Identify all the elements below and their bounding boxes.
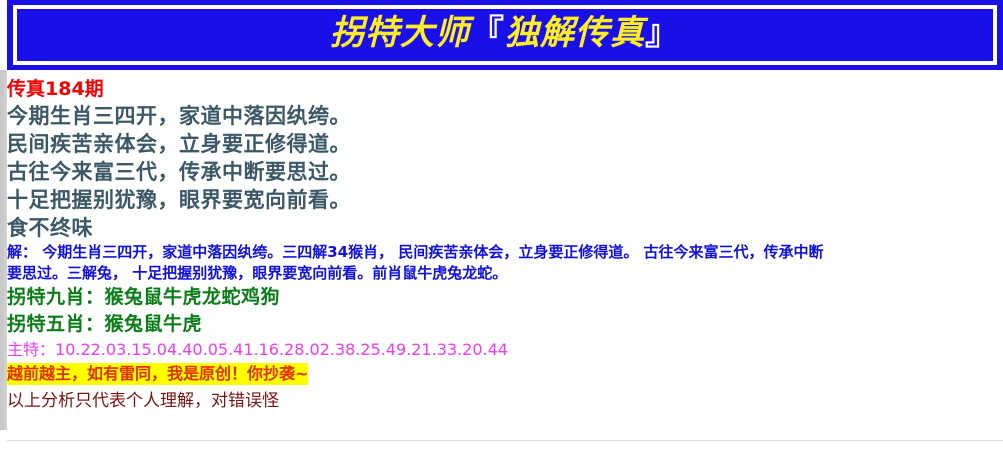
poem-line: 十足把握别犹豫，眼界要宽向前看。 <box>7 186 997 214</box>
banner-title-main: 拐特大师 <box>330 13 470 53</box>
explanation-line: 要思过。三解兔， 十足把握别犹豫，眼界要宽向前看。前肖鼠牛虎兔龙蛇。 <box>7 263 997 284</box>
poem-line: 古往今来富三代，传承中断要思过。 <box>7 158 997 186</box>
poem-line: 民间疾苦亲体会，立身要正修得道。 <box>7 130 997 158</box>
main-numbers-line: 主特：10.22.03.15.04.40.05.41.16.28.02.38.2… <box>7 338 997 361</box>
main-numbers-label: 主特： <box>7 340 55 359</box>
bottom-divider <box>7 440 1003 441</box>
banner-title: 拐特大师『独解传真』 <box>7 11 1003 55</box>
poem-line: 今期生肖三四开，家道中落因纨绔。 <box>7 102 997 130</box>
disclaimer-line: 以上分析只代表个人理解，对错误怪 <box>7 385 997 414</box>
main-numbers-value: 10.22.03.15.04.40.05.41.16.28.02.38.25.4… <box>55 340 508 359</box>
page-root: 拐特大师『独解传真』 传真184期 今期生肖三四开，家道中落因纨绔。 民间疾苦亲… <box>0 0 1003 452</box>
explanation-line: 解： 今期生肖三四开，家道中落因纨绔。三四解34猴肖， 民间疾苦亲体会，立身要正… <box>7 242 997 263</box>
header-banner: 拐特大师『独解传真』 <box>7 0 1003 70</box>
issue-title: 传真184期 <box>7 70 997 102</box>
banner-bracket-open: 『 <box>470 13 505 53</box>
banner-corner-br <box>986 54 993 61</box>
left-rail <box>0 70 7 430</box>
nine-zodiac-line: 拐特九肖：猴兔鼠牛虎龙蛇鸡狗 <box>7 284 997 311</box>
banner-title-inner: 独解传真 <box>505 13 645 53</box>
copyright-notice-text: 越前越主，如有雷同，我是原创！你抄袭~ <box>7 363 308 385</box>
banner-bracket-close: 』 <box>645 13 680 53</box>
content-area: 传真184期 今期生肖三四开，家道中落因纨绔。 民间疾苦亲体会，立身要正修得道。… <box>7 70 997 414</box>
poem-line: 食不终味 <box>7 214 997 242</box>
five-zodiac-line: 拐特五肖：猴兔鼠牛虎 <box>7 311 997 338</box>
banner-corner-bl <box>17 54 24 61</box>
left-rail-inner <box>0 70 4 430</box>
copyright-notice: 越前越主，如有雷同，我是原创！你抄袭~ <box>7 362 997 385</box>
